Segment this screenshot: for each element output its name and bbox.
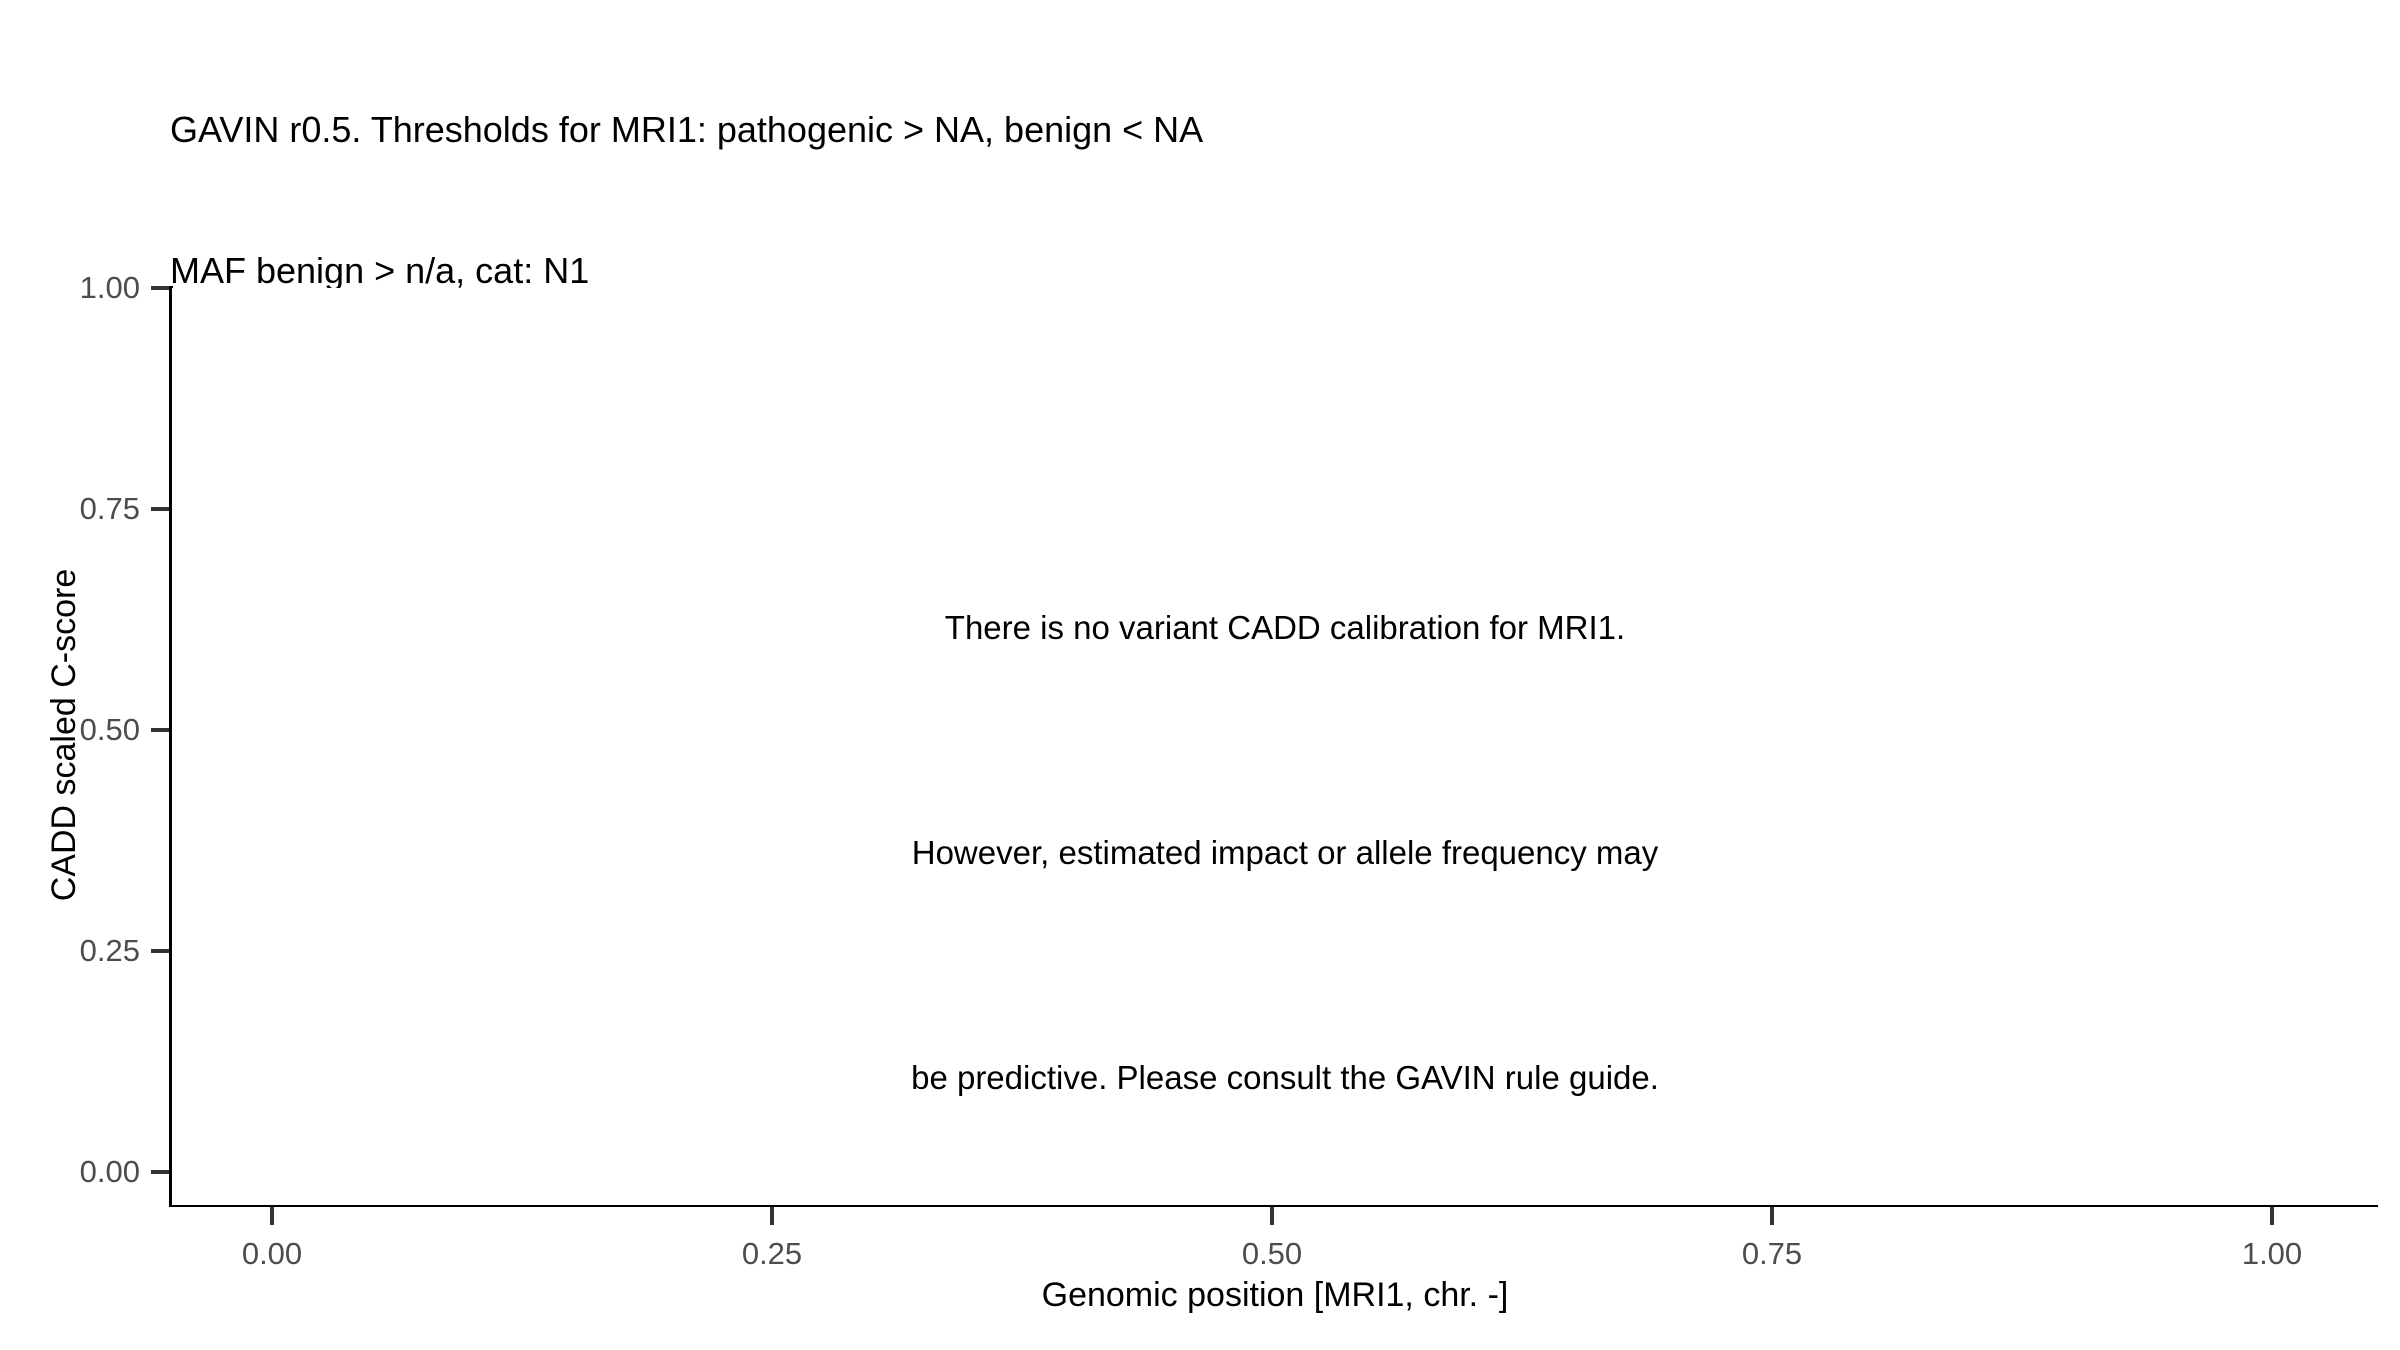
y-tick-mark-0.50: [151, 728, 169, 732]
no-calibration-annotation: There is no variant CADD calibration for…: [460, 440, 2110, 1265]
y-tick-label-1.00: 1.00: [20, 272, 140, 303]
plot-panel: There is no variant CADD calibration for…: [172, 288, 2378, 1205]
x-tick-label-0.50: 0.50: [1192, 1238, 1352, 1269]
y-tick-mark-0.25: [151, 949, 169, 953]
annotation-line-1: There is no variant CADD calibration for…: [460, 590, 2110, 665]
x-tick-label-0.25: 0.25: [692, 1238, 852, 1269]
plot-canvas: GAVIN r0.5. Thresholds for MRI1: pathoge…: [0, 0, 2400, 1350]
y-axis-title: CADD scaled C-score: [47, 335, 81, 1135]
x-tick-label-0.00: 0.00: [192, 1238, 352, 1269]
x-tick-label-0.75: 0.75: [1692, 1238, 1852, 1269]
plot-title-line-1: GAVIN r0.5. Thresholds for MRI1: pathoge…: [170, 106, 2270, 153]
y-tick-mark-0.75: [151, 507, 169, 511]
plot-title-line-2: MAF benign > n/a, cat: N1: [170, 247, 2270, 294]
y-tick-mark-0.00: [151, 1170, 169, 1174]
annotation-line-2: However, estimated impact or allele freq…: [460, 815, 2110, 890]
annotation-line-3: be predictive. Please consult the GAVIN …: [460, 1040, 2110, 1115]
x-axis-title: Genomic position [MRI1, chr. -]: [172, 1278, 2378, 1312]
x-tick-mark-1.00: [2270, 1207, 2274, 1225]
y-tick-mark-1.00: [151, 286, 169, 290]
y-tick-label-0.00: 0.00: [20, 1156, 140, 1187]
x-tick-mark-0.00: [270, 1207, 274, 1225]
x-tick-mark-0.25: [770, 1207, 774, 1225]
x-tick-mark-0.75: [1770, 1207, 1774, 1225]
x-tick-mark-0.50: [1270, 1207, 1274, 1225]
x-tick-label-1.00: 1.00: [2192, 1238, 2352, 1269]
